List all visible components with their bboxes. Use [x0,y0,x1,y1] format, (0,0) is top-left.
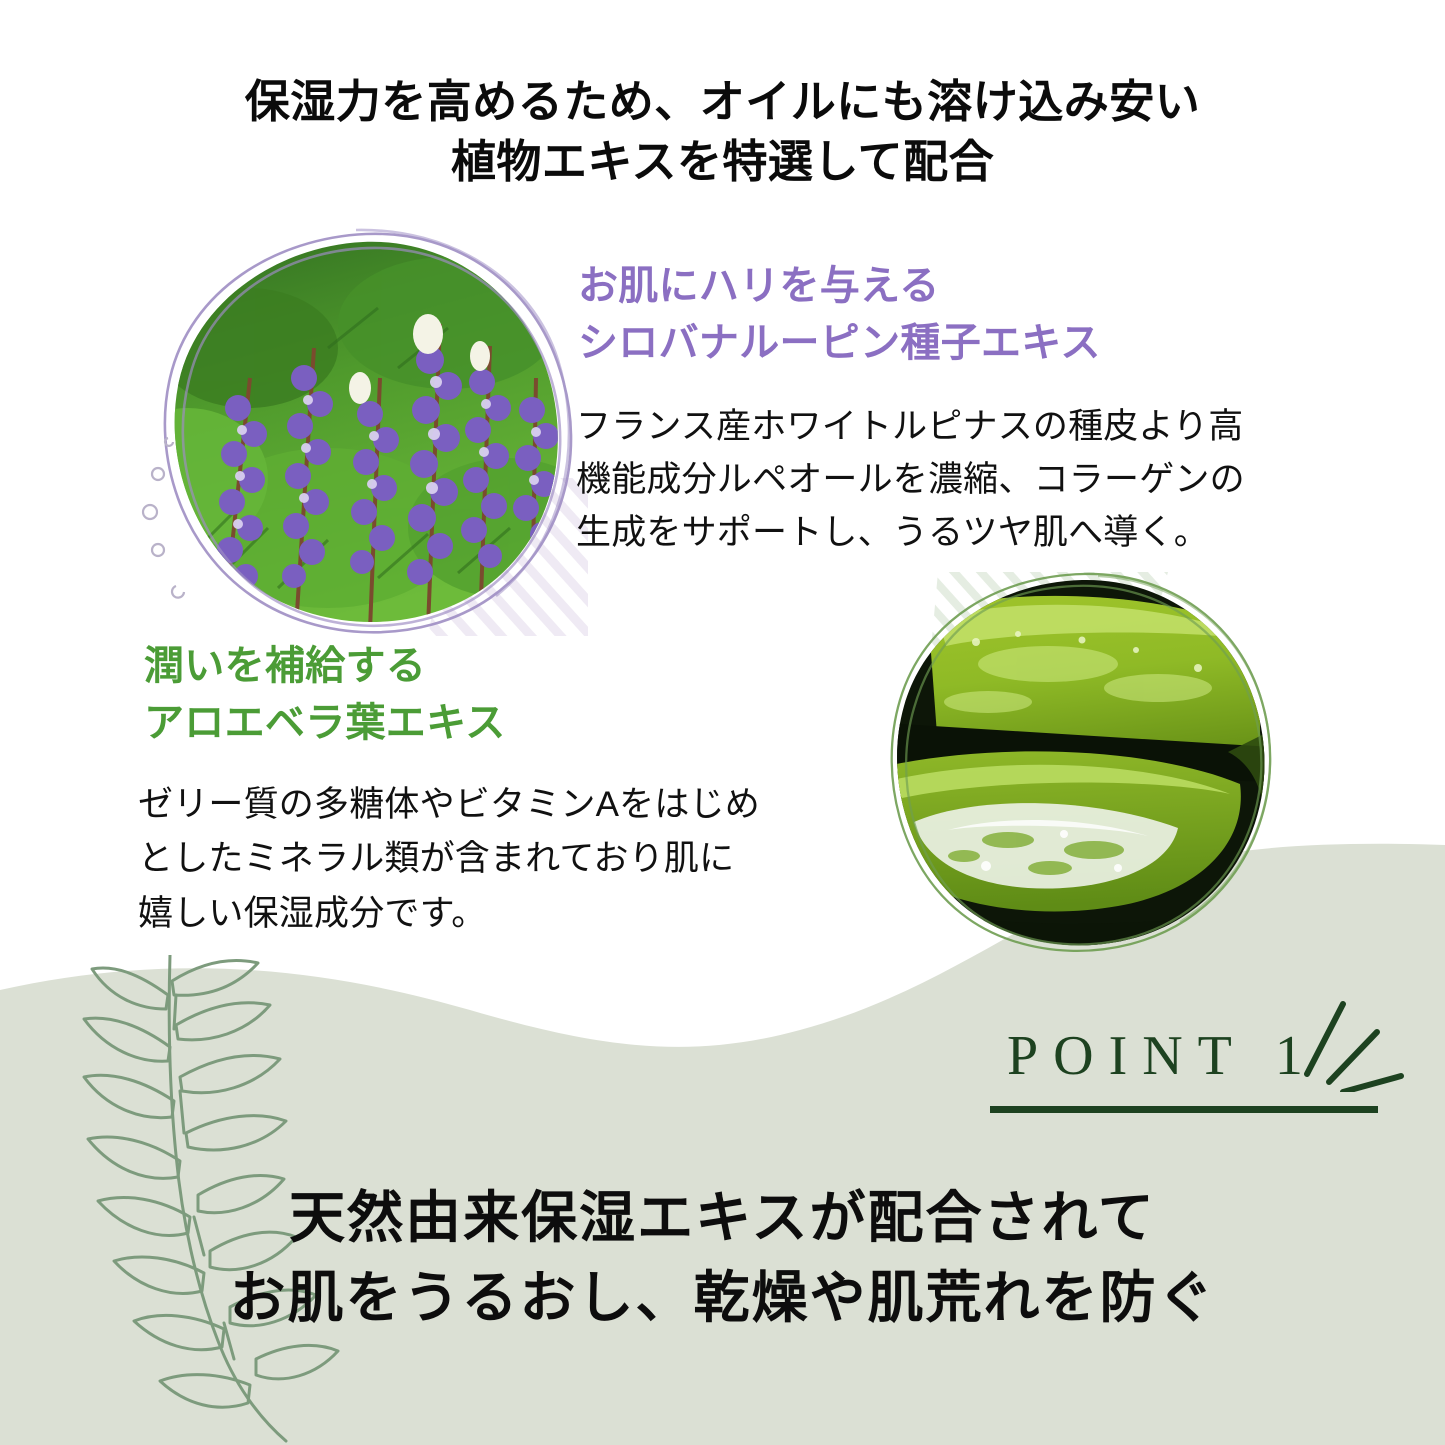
aloe-description: ゼリー質の多糖体やビタミンAをはじめ としたミネラル類が含まれており肌に 嬉しい… [138,778,928,941]
headline-line-2: 植物エキスを特選して配合 [0,132,1445,192]
lupine-photo [128,228,588,636]
aloe-body-line-2: としたミネラル類が含まれており肌に [138,832,928,886]
lupine-heading-line-2: シロバナルーピン種子エキス [578,315,1238,372]
lupine-description: フランス産ホワイトルピナスの種皮より高 機能成分ルペオールを濃縮、コラーゲンの … [576,400,1396,560]
page-headline: 保湿力を高めるため、オイルにも溶け込み安い 植物エキスを特選して配合 [0,72,1445,192]
lupine-heading-line-1: お肌にハリを与える [578,258,1238,315]
aloe-body-line-1: ゼリー質の多糖体やビタミンAをはじめ [138,778,928,832]
aloe-heading-line-2: アロエベラ葉エキス [144,695,764,752]
aloe-heading: 潤いを補給する アロエベラ葉エキス [144,638,764,752]
aloe-heading-line-1: 潤いを補給する [144,638,764,695]
aloe-photo-image [868,572,1288,954]
bottom-tagline: 天然由来保湿エキスが配合されて お肌をうるおし、乾燥や肌荒れを防ぐ [0,1178,1445,1337]
lupine-photo-block [128,228,588,636]
lupine-body-line-1: フランス産ホワイトルピナスの種皮より高 [576,400,1396,453]
point-underline [990,1106,1378,1113]
lupine-heading: お肌にハリを与える シロバナルーピン種子エキス [578,258,1238,372]
headline-line-1: 保湿力を高めるため、オイルにも溶け込み安い [0,72,1445,132]
lupine-body-line-2: 機能成分ルペオールを濃縮、コラーゲンの [576,453,1396,506]
tagline-line-1: 天然由来保湿エキスが配合されて [0,1178,1445,1258]
lupine-body-line-3: 生成をサポートし、うるツヤ肌へ導く。 [576,506,1396,559]
aloe-photo-block [868,572,1288,954]
tagline-line-2: お肌をうるおし、乾燥や肌荒れを防ぐ [0,1258,1445,1338]
sparkle-lines-icon [1285,982,1405,1092]
aloe-body-line-3: 嬉しい保湿成分です。 [138,887,928,941]
small-circle-dots [143,438,184,598]
infographic-canvas: 保湿力を高めるため、オイルにも溶け込み安い 植物エキスを特選して配合 [0,0,1445,1445]
aloe-photo [868,572,1288,954]
point-badge: POINT 1 [985,1020,1385,1130]
